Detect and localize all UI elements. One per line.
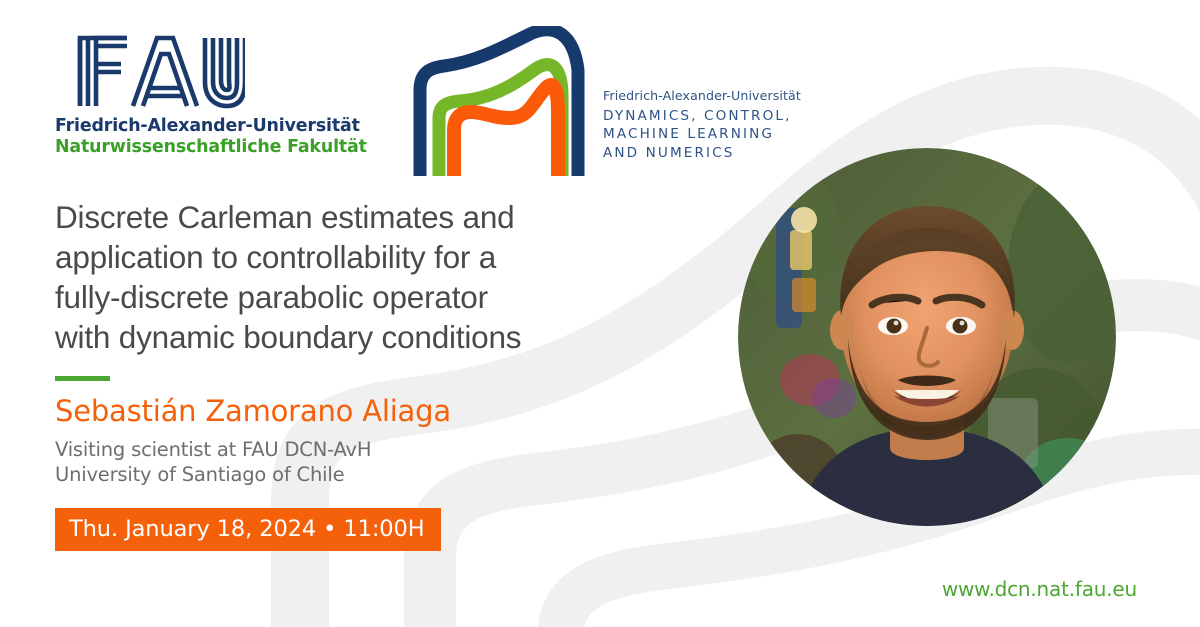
affiliation-line-2: University of Santiago of Chile [55, 462, 655, 487]
portrait-image [738, 148, 1116, 526]
talk-title-line-2: application to controllability for a [55, 239, 496, 275]
dcn-arch-icon [406, 26, 591, 176]
event-announcement-poster: Friedrich-Alexander-Universität Naturwis… [0, 0, 1200, 627]
dcn-logo: Friedrich-Alexander-Universität DYNAMICS… [406, 26, 801, 176]
fau-wordmark-icon [55, 32, 245, 110]
dcn-line-3: AND NUMERICS [603, 144, 801, 163]
talk-title-line-4: with dynamic boundary conditions [55, 319, 521, 355]
dcn-line-2: MACHINE LEARNING [603, 125, 801, 144]
website-url[interactable]: www.dcn.nat.fau.eu [942, 577, 1137, 601]
talk-title-line-1: Discrete Carleman estimates and [55, 199, 515, 235]
event-date-badge: Thu. January 18, 2024 • 11:00H [55, 508, 441, 551]
fau-logo: Friedrich-Alexander-Universität Naturwis… [55, 32, 355, 158]
fau-university-label: Friedrich-Alexander-Universität [55, 116, 355, 137]
talk-title-line-3: fully-discrete parabolic operator [55, 279, 488, 315]
fau-faculty-label: Naturwissenschaftliche Fakultät [55, 137, 355, 158]
speaker-name: Sebastián Zamorano Aliaga [55, 394, 655, 428]
speaker-portrait [738, 148, 1116, 526]
green-accent-bar [55, 376, 110, 381]
speaker-affiliation: Visiting scientist at FAU DCN-AvH Univer… [55, 437, 655, 487]
content-column: Discrete Carleman estimates and applicat… [55, 197, 655, 551]
dcn-line-1: DYNAMICS, CONTROL, [603, 107, 801, 126]
talk-title: Discrete Carleman estimates and applicat… [55, 197, 655, 357]
dcn-university-label: Friedrich-Alexander-Universität [603, 88, 801, 103]
dcn-logo-text: Friedrich-Alexander-Universität DYNAMICS… [603, 88, 801, 163]
affiliation-line-1: Visiting scientist at FAU DCN-AvH [55, 437, 655, 462]
